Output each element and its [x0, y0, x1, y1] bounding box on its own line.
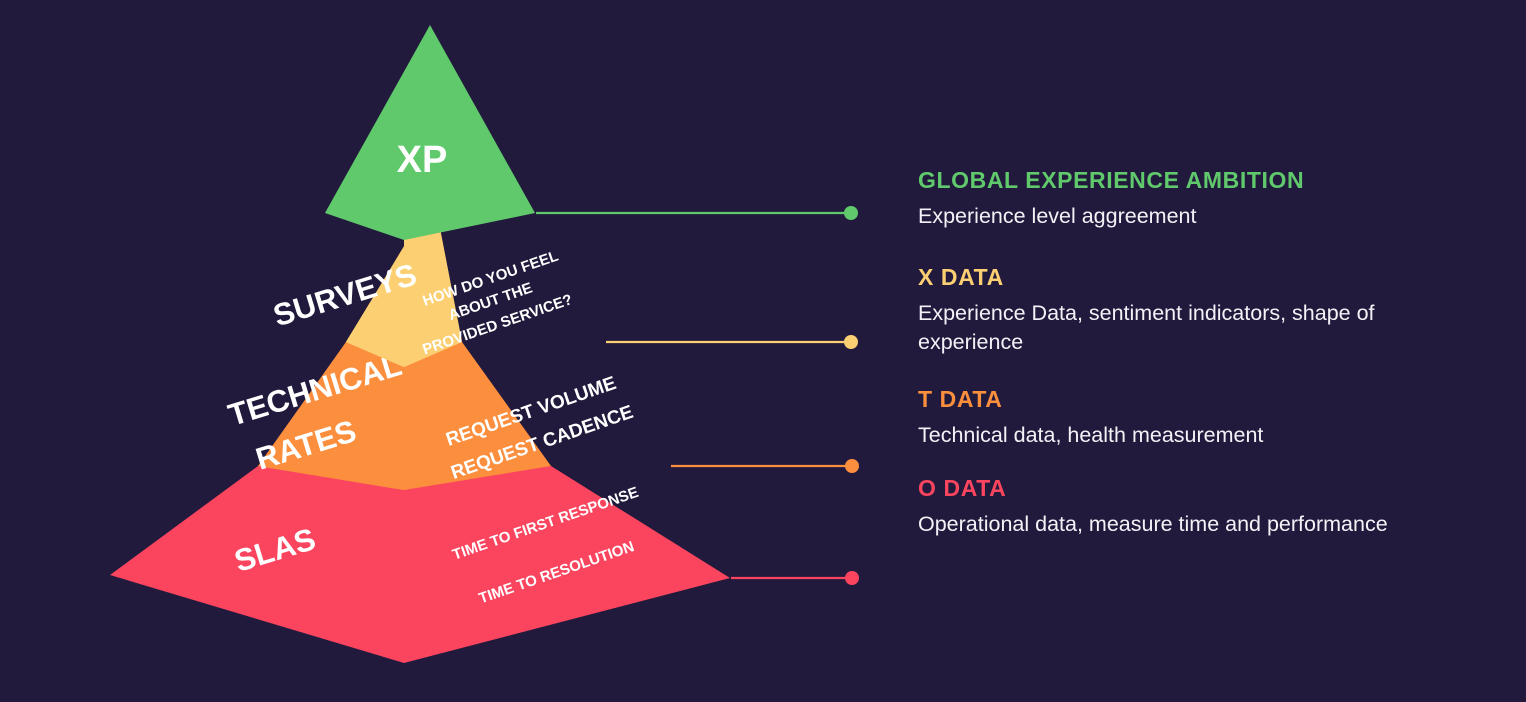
- legend-item-t-data[interactable]: T DATA Technical data, health measuremen…: [918, 387, 1438, 450]
- infographic-canvas: SLAS TIME TO FIRST RESPONSE TIME TO RESO…: [0, 0, 1526, 702]
- legend-item-o-data[interactable]: O DATA Operational data, measure time an…: [918, 476, 1438, 539]
- legend-panel: GLOBAL EXPERIENCE AMBITION Experience le…: [918, 168, 1438, 539]
- pyramid-tier-slas[interactable]: SLAS TIME TO FIRST RESPONSE TIME TO RESO…: [110, 466, 730, 663]
- legend-description-global-experience-ambition: Experience level aggreement: [918, 202, 1398, 231]
- legend-item-x-data[interactable]: X DATA Experience Data, sentiment indica…: [918, 265, 1438, 357]
- legend-title-global-experience-ambition: GLOBAL EXPERIENCE AMBITION: [918, 168, 1438, 193]
- xp-label: XP: [397, 139, 448, 181]
- legend-item-global-experience-ambition[interactable]: GLOBAL EXPERIENCE AMBITION Experience le…: [918, 168, 1438, 231]
- pyramid-tier-xp[interactable]: XP: [325, 25, 535, 240]
- xp-apex-face: [325, 25, 535, 240]
- pyramid-tier-technical-rates[interactable]: TECHNICAL RATES REQUEST VOLUME REQUEST C…: [224, 342, 636, 490]
- connector-yellow-dot: [844, 335, 858, 349]
- connector-red-dot: [845, 571, 859, 585]
- legend-title-x-data: X DATA: [918, 265, 1438, 290]
- legend-description-o-data: Operational data, measure time and perfo…: [918, 510, 1398, 539]
- connector-green-dot: [844, 206, 858, 220]
- legend-description-t-data: Technical data, health measurement: [918, 421, 1398, 450]
- legend-title-o-data: O DATA: [918, 476, 1438, 501]
- connector-orange-dot: [845, 459, 859, 473]
- legend-description-x-data: Experience Data, sentiment indicators, s…: [918, 299, 1398, 357]
- legend-title-t-data: T DATA: [918, 387, 1438, 412]
